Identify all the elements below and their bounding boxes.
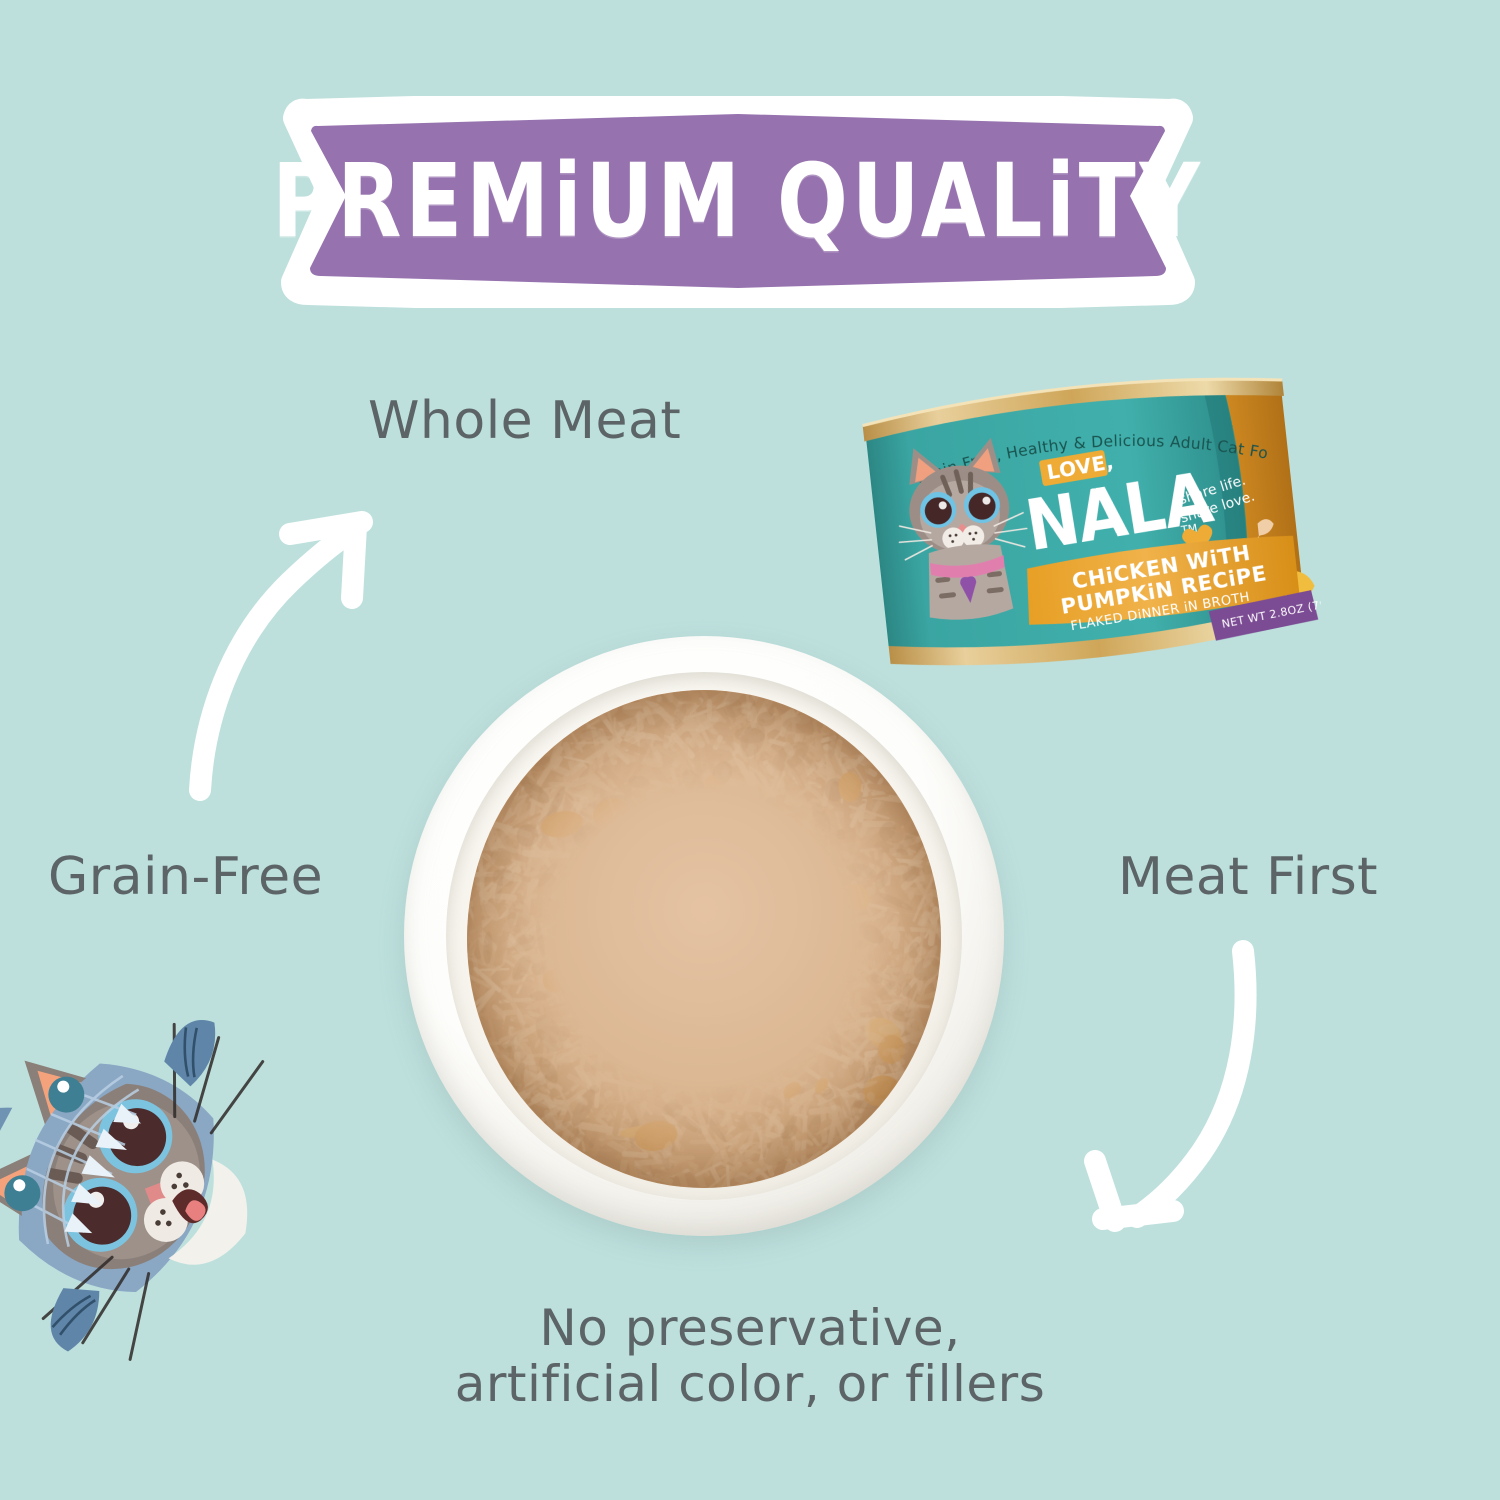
feature-label-meat-first: Meat First xyxy=(1118,848,1378,906)
curved-arrow-up-icon xyxy=(170,490,410,814)
feature-label-grain-free: Grain-Free xyxy=(48,848,323,906)
banner-title: PREMiUM QUALiTY xyxy=(286,77,1190,327)
infographic-canvas: PREMiUM QUALiTY Whole Meat Grain-Free Me… xyxy=(0,0,1500,1500)
curved-arrow-down-icon xyxy=(1045,925,1305,1259)
feature-label-whole-meat: Whole Meat xyxy=(368,392,681,450)
shredded-chicken-food xyxy=(467,690,941,1188)
premium-quality-banner: PREMiUM QUALiTY xyxy=(272,96,1204,308)
nala-mascot-illustration xyxy=(0,968,346,1388)
product-can: Grain Free, Healthy & Delicious Adult Ca… xyxy=(844,339,1329,736)
